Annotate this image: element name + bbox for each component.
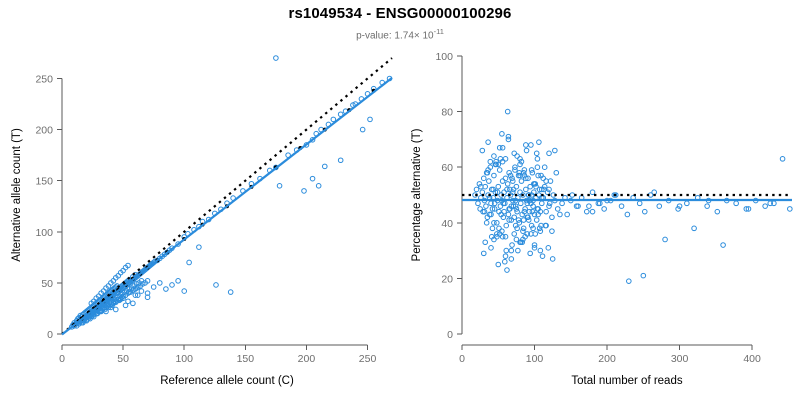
data-point	[529, 168, 534, 173]
data-point	[602, 207, 607, 212]
data-point	[481, 251, 486, 256]
data-point	[529, 143, 534, 148]
data-point	[715, 209, 720, 214]
data-point	[113, 307, 118, 312]
data-point	[780, 157, 785, 162]
data-point	[502, 209, 507, 214]
data-point	[496, 184, 501, 189]
data-point	[176, 279, 181, 284]
data-point	[550, 257, 555, 262]
data-point	[524, 187, 529, 192]
y-tick-label: 20	[441, 273, 453, 285]
data-layer	[462, 109, 792, 283]
data-point	[504, 223, 509, 228]
data-point	[505, 187, 510, 192]
data-point	[521, 229, 526, 234]
data-point	[500, 132, 505, 137]
data-point	[157, 281, 162, 286]
data-point	[521, 218, 526, 223]
data-point	[555, 207, 560, 212]
data-point	[657, 204, 662, 209]
figure-root: rs1049534 - ENSG00000100296 p-value: 1.7…	[0, 0, 800, 400]
y-tick-label: 100	[35, 227, 53, 239]
panel-reference-vs-alternative: 050100150200250Alternative allele count …	[0, 0, 400, 400]
data-point	[514, 207, 519, 212]
x-tick-label: 300	[671, 353, 689, 365]
data-point	[274, 56, 279, 61]
data-point	[502, 259, 507, 264]
data-point	[503, 157, 508, 162]
data-point	[484, 221, 489, 226]
data-point	[360, 127, 365, 132]
x-tick-label: 150	[237, 353, 255, 365]
data-point	[480, 190, 485, 195]
data-point	[544, 209, 549, 214]
data-point	[500, 234, 505, 239]
data-point	[619, 204, 624, 209]
data-point	[512, 151, 517, 156]
data-point	[476, 201, 481, 206]
data-point	[788, 207, 793, 212]
data-point	[496, 262, 501, 267]
x-tick-label: 100	[175, 353, 193, 365]
y-tick-label: 200	[35, 125, 53, 137]
data-point	[506, 212, 511, 217]
data-point	[182, 289, 187, 294]
x-axis-title: Total number of reads	[571, 375, 682, 387]
data-point	[197, 245, 202, 250]
data-point	[492, 221, 497, 226]
data-point	[663, 237, 668, 242]
data-point	[139, 289, 144, 294]
data-point	[512, 215, 517, 220]
data-point	[519, 179, 524, 184]
data-point	[502, 190, 507, 195]
x-tick-label: 250	[359, 353, 377, 365]
data-point	[546, 246, 551, 251]
data-point	[214, 283, 219, 288]
data-point	[151, 285, 156, 290]
data-point	[537, 193, 542, 198]
data-point	[170, 283, 175, 288]
y-tick-label: 80	[441, 107, 453, 119]
data-point	[509, 248, 514, 253]
data-point	[316, 184, 321, 189]
data-point	[536, 173, 541, 178]
x-tick-label: 0	[459, 353, 465, 365]
data-point	[590, 209, 595, 214]
data-point	[486, 140, 491, 145]
data-point-group	[473, 109, 792, 283]
data-point	[497, 168, 502, 173]
data-point	[478, 207, 483, 212]
data-point	[228, 290, 233, 295]
y-tick-label: 100	[435, 51, 453, 63]
data-point	[535, 157, 540, 162]
data-point	[642, 209, 647, 214]
data-point	[565, 212, 570, 217]
data-point	[652, 190, 657, 195]
data-point	[587, 204, 592, 209]
data-point	[510, 243, 515, 248]
data-point	[550, 229, 555, 234]
data-point	[524, 148, 529, 153]
data-point	[505, 109, 510, 114]
data-point	[590, 190, 595, 195]
data-point	[123, 303, 128, 308]
data-point	[692, 226, 697, 231]
y-axis-title: Percentage alternative (T)	[411, 128, 423, 261]
data-point	[524, 143, 529, 148]
x-tick-label: 100	[526, 353, 544, 365]
data-point	[763, 204, 768, 209]
panel-reads-vs-percentage: 020406080100Percentage alternative (T)01…	[400, 0, 800, 400]
data-point	[734, 201, 739, 206]
x-tick-label: 200	[598, 353, 616, 365]
data-point	[187, 260, 192, 265]
data-point	[516, 248, 521, 253]
data-point	[515, 154, 520, 159]
data-point	[637, 201, 642, 206]
data-point	[302, 189, 307, 194]
y-axis-title: Alternative allele count (T)	[11, 128, 23, 262]
data-layer	[62, 56, 392, 335]
y-tick-label: 250	[35, 73, 53, 85]
data-point	[492, 154, 497, 159]
data-point	[277, 184, 282, 189]
data-point	[504, 248, 509, 253]
data-point	[492, 173, 497, 178]
data-point	[505, 268, 510, 273]
data-point	[627, 279, 632, 284]
data-point	[641, 273, 646, 278]
x-tick-label: 400	[743, 353, 761, 365]
data-point	[514, 184, 519, 189]
data-point	[721, 243, 726, 248]
y-tick-label: 0	[447, 329, 453, 341]
data-point	[481, 176, 486, 181]
data-point	[512, 232, 517, 237]
data-point	[534, 218, 539, 223]
y-tick-label: 150	[35, 176, 53, 188]
data-point	[528, 251, 533, 256]
y-tick-label: 0	[47, 329, 53, 341]
x-tick-label: 0	[59, 353, 65, 365]
data-point	[534, 151, 539, 156]
data-point	[547, 201, 552, 206]
data-point	[554, 170, 559, 175]
data-point	[474, 187, 479, 192]
data-point	[338, 158, 343, 163]
data-point	[584, 209, 589, 214]
data-point	[498, 204, 503, 209]
data-point	[488, 159, 493, 164]
data-point	[547, 151, 552, 156]
data-point	[505, 182, 510, 187]
x-tick-label: 200	[298, 353, 316, 365]
data-point	[518, 201, 523, 206]
data-point	[558, 212, 563, 217]
data-point	[553, 148, 558, 153]
data-point	[497, 226, 502, 231]
data-point	[489, 246, 494, 251]
y-tick-label: 50	[41, 278, 53, 290]
data-point	[484, 204, 489, 209]
x-tick-label: 50	[117, 353, 129, 365]
data-point	[560, 201, 565, 206]
data-point	[550, 215, 555, 220]
data-point	[705, 204, 710, 209]
x-axis-title: Reference allele count (C)	[160, 375, 294, 387]
data-point	[516, 218, 521, 223]
data-point	[537, 140, 542, 145]
data-point	[164, 287, 169, 292]
data-point	[503, 254, 508, 259]
data-point	[500, 179, 505, 184]
data-point	[685, 201, 690, 206]
data-point	[510, 179, 515, 184]
data-point	[503, 176, 508, 181]
data-point	[535, 165, 540, 170]
y-tick-label: 60	[441, 162, 453, 174]
data-point	[310, 176, 315, 181]
data-point	[540, 254, 545, 259]
data-point	[518, 190, 523, 195]
y-tick-label: 40	[441, 218, 453, 230]
data-point	[490, 226, 495, 231]
data-point	[131, 301, 136, 306]
data-point	[509, 257, 514, 262]
regression-fit-line	[62, 78, 392, 335]
data-point	[487, 179, 492, 184]
data-point	[483, 240, 488, 245]
data-point	[500, 145, 505, 150]
data-point	[368, 117, 373, 122]
data-point	[570, 193, 575, 198]
data-point	[538, 248, 543, 253]
data-point	[625, 212, 630, 217]
scatter-plot-percentage-alternative: 020406080100Percentage alternative (T)01…	[400, 0, 800, 400]
data-point	[539, 201, 544, 206]
scatter-plot-allele-counts: 050100150200250Alternative allele count …	[0, 0, 400, 400]
data-point	[322, 164, 327, 169]
data-point	[542, 165, 547, 170]
data-point	[480, 148, 485, 153]
